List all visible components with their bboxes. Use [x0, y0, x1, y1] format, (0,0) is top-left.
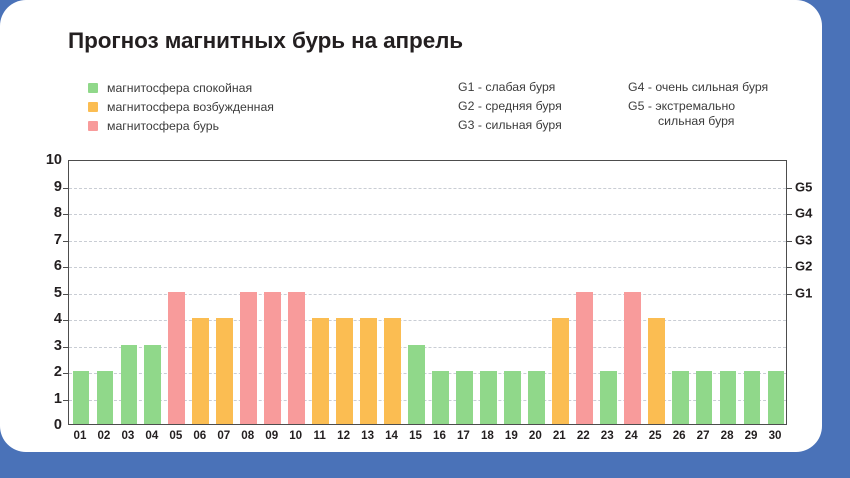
gscale-entry: G5 - экстремально [628, 99, 768, 114]
bar[interactable] [504, 371, 521, 424]
bar-column[interactable] [528, 161, 545, 424]
y-axis-tick-label: 7 [54, 232, 62, 248]
legend-item-label: магнитосфера возбужденная [107, 100, 274, 114]
gscale-entry: G2 - средняя буря [458, 99, 562, 118]
x-axis-tick-label: 28 [721, 429, 734, 442]
y-axis-labels: 109876543210 [34, 160, 62, 425]
gscale-entry: G4 - очень сильная буря [628, 80, 768, 99]
legend-swatch-calm-icon [88, 83, 98, 93]
g-axis-tick-mark [786, 294, 792, 295]
y-axis-tick-label: 8 [54, 205, 62, 221]
legend-swatch-excited-icon [88, 102, 98, 112]
bar[interactable] [192, 318, 209, 424]
bar-column[interactable] [336, 161, 353, 424]
bar[interactable] [408, 345, 425, 425]
x-axis-tick-label: 17 [457, 429, 470, 442]
bar-column[interactable] [672, 161, 689, 424]
x-axis-tick-label: 16 [433, 429, 446, 442]
g-axis-tick-mark [786, 214, 792, 215]
bar[interactable] [288, 292, 305, 425]
bar[interactable] [552, 318, 569, 424]
x-axis-tick-label: 18 [481, 429, 494, 442]
bar-column[interactable] [216, 161, 233, 424]
x-axis-tick-label: 30 [769, 429, 782, 442]
bar-column[interactable] [600, 161, 617, 424]
bar[interactable] [121, 345, 138, 425]
bar-column[interactable] [552, 161, 569, 424]
bar-column[interactable] [73, 161, 90, 424]
bar[interactable] [384, 318, 401, 424]
bar-column[interactable] [144, 161, 161, 424]
x-axis-tick-label: 12 [337, 429, 350, 442]
y-axis-tick-label: 4 [54, 311, 62, 327]
bar-column[interactable] [480, 161, 497, 424]
legend-swatch-storm-icon [88, 121, 98, 131]
g-axis-tick-label: G4 [795, 206, 812, 221]
g-scale-axis-labels: G5G4G3G2G1 [795, 160, 835, 425]
g-axis-tick-label: G2 [795, 259, 812, 274]
bar[interactable] [312, 318, 329, 424]
bar[interactable] [744, 371, 761, 424]
bar[interactable] [144, 345, 161, 425]
x-axis-tick-label: 20 [529, 429, 542, 442]
bar-column[interactable] [97, 161, 114, 424]
bar[interactable] [672, 371, 689, 424]
bar[interactable] [720, 371, 737, 424]
x-axis-tick-label: 07 [217, 429, 230, 442]
g-axis-tick-label: G1 [795, 285, 812, 300]
x-axis-tick-label: 13 [361, 429, 374, 442]
bar-column[interactable] [408, 161, 425, 424]
y-axis-tick-label: 2 [54, 364, 62, 380]
bar-column[interactable] [240, 161, 257, 424]
bar-column[interactable] [504, 161, 521, 424]
bar-column[interactable] [744, 161, 761, 424]
bar-column[interactable] [168, 161, 185, 424]
bar-series [69, 161, 786, 424]
bar[interactable] [97, 371, 114, 424]
x-axis-tick-label: 24 [625, 429, 638, 442]
bar-column[interactable] [360, 161, 377, 424]
bar-column[interactable] [288, 161, 305, 424]
x-axis-tick-label: 10 [289, 429, 302, 442]
legend-item-label: магнитосфера бурь [107, 119, 219, 133]
bar[interactable] [168, 292, 185, 425]
legend-item-calm: магнитосфера спокойная [88, 79, 274, 96]
gscale-entry: G3 - сильная буря [458, 118, 562, 137]
x-axis-tick-label: 23 [601, 429, 614, 442]
x-axis-tick-label: 04 [145, 429, 158, 442]
g-axis-tick-mark [786, 241, 792, 242]
bar-column[interactable] [312, 161, 329, 424]
bar[interactable] [696, 371, 713, 424]
x-axis-labels: 0102030405060708091011121314151617181920… [68, 429, 787, 449]
x-axis-tick-label: 25 [649, 429, 662, 442]
bar[interactable] [648, 318, 665, 424]
x-axis-tick-label: 14 [385, 429, 398, 442]
bar[interactable] [264, 292, 281, 425]
bar-column[interactable] [576, 161, 593, 424]
x-axis-tick-label: 09 [265, 429, 278, 442]
bar-column[interactable] [121, 161, 138, 424]
y-axis-tick-label: 3 [54, 338, 62, 354]
x-axis-tick-label: 27 [697, 429, 710, 442]
x-axis-tick-label: 02 [97, 429, 110, 442]
x-axis-tick-label: 03 [121, 429, 134, 442]
bar[interactable] [576, 292, 593, 425]
bar[interactable] [73, 371, 90, 424]
x-axis-tick-label: 05 [169, 429, 182, 442]
g-axis-tick-mark [786, 267, 792, 268]
bar-column[interactable] [264, 161, 281, 424]
x-axis-tick-label: 19 [505, 429, 518, 442]
g-axis-tick-label: G5 [795, 179, 812, 194]
g-axis-tick-mark [786, 188, 792, 189]
bar[interactable] [528, 371, 545, 424]
bar[interactable] [624, 292, 641, 425]
bar[interactable] [600, 371, 617, 424]
y-axis-tick-label: 10 [46, 152, 62, 168]
bar[interactable] [216, 318, 233, 424]
bar-column[interactable] [432, 161, 449, 424]
bar-column[interactable] [696, 161, 713, 424]
bar[interactable] [432, 371, 449, 424]
x-axis-tick-label: 01 [74, 429, 87, 442]
legend-item-storm: магнитосфера бурь [88, 117, 274, 134]
x-axis-tick-label: 22 [577, 429, 590, 442]
gscale-legend-column-2: G4 - очень сильная буряG5 - экстремально… [628, 80, 768, 129]
gscale-entry: G1 - слабая буря [458, 80, 562, 99]
gscale-legend-column-1: G1 - слабая буряG2 - средняя буряG3 - си… [458, 80, 562, 137]
x-axis-tick-label: 11 [314, 429, 326, 442]
y-axis-tick-label: 6 [54, 258, 62, 274]
bar-column[interactable] [384, 161, 401, 424]
bar-column[interactable] [456, 161, 473, 424]
x-axis-tick-label: 26 [673, 429, 686, 442]
bar[interactable] [480, 371, 497, 424]
g-axis-tick-label: G3 [795, 232, 812, 247]
bar-column[interactable] [624, 161, 641, 424]
y-axis-tick-label: 9 [54, 179, 62, 195]
x-axis-tick-label: 29 [745, 429, 758, 442]
bar-column[interactable] [720, 161, 737, 424]
y-axis-tick-label: 0 [54, 417, 62, 433]
y-axis-tick-label: 5 [54, 285, 62, 301]
color-legend: магнитосфера спокойнаямагнитосфера возбу… [88, 79, 274, 136]
legend-item-label: магнитосфера спокойная [107, 81, 252, 95]
bar[interactable] [240, 292, 257, 425]
x-axis-tick-label: 15 [409, 429, 422, 442]
x-axis-tick-label: 21 [553, 429, 566, 442]
chart-card: Прогноз магнитных бурь на апрель магнито… [0, 0, 822, 452]
bar[interactable] [336, 318, 353, 424]
y-axis-tick-label: 1 [54, 391, 62, 407]
bar[interactable] [768, 371, 785, 424]
bar-column[interactable] [192, 161, 209, 424]
page-title: Прогноз магнитных бурь на апрель [68, 28, 463, 54]
legend-item-excited: магнитосфера возбужденная [88, 98, 274, 115]
gscale-entry: сильная буря [628, 114, 768, 129]
bar-column[interactable] [768, 161, 785, 424]
x-axis-tick-label: 06 [193, 429, 206, 442]
bar[interactable] [360, 318, 377, 424]
x-axis-tick-label: 08 [241, 429, 254, 442]
plot-area [68, 160, 787, 425]
bar-column[interactable] [648, 161, 665, 424]
bar[interactable] [456, 371, 473, 424]
